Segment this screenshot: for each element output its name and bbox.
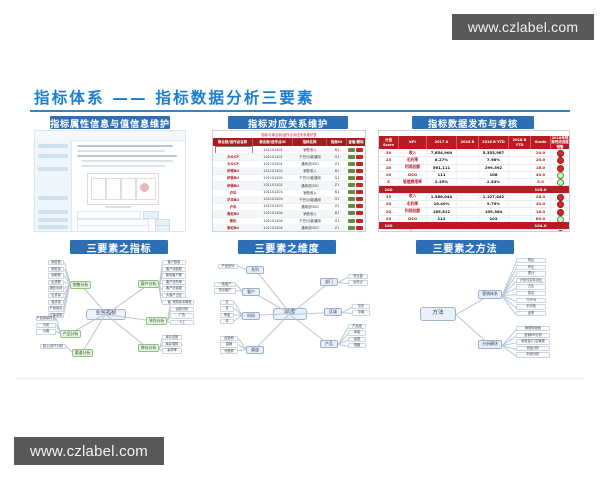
col-score: 分值 Score bbox=[379, 136, 399, 149]
form-label-column bbox=[35, 140, 72, 231]
mindmap-branch-node[interactable]: 营销体系 bbox=[478, 290, 502, 299]
mindmap-branch-node[interactable]: 系列 bbox=[246, 266, 264, 274]
mindmap-leaf-node[interactable]: 累计 bbox=[516, 271, 546, 276]
mindmap-leaf-node[interactable]: 运作点 bbox=[348, 280, 368, 285]
total-grade: 104.0 bbox=[531, 222, 551, 229]
form-label-row bbox=[38, 225, 68, 229]
table-cell: G1 bbox=[327, 174, 347, 181]
delete-button[interactable] bbox=[356, 211, 363, 215]
table-cell: 1,127,442 bbox=[479, 193, 509, 200]
table-cell: 通用总DSO bbox=[293, 203, 327, 210]
table-cell: 销售收入 bbox=[293, 167, 327, 174]
table-cell bbox=[457, 200, 479, 207]
table-cell: B1 bbox=[327, 146, 347, 153]
table-cell: 通用总DSO bbox=[293, 160, 327, 167]
table-cell bbox=[509, 207, 531, 214]
table-cell: 收入 bbox=[399, 229, 427, 232]
table-cell bbox=[457, 178, 479, 185]
table-cell: Z1 bbox=[327, 203, 347, 210]
mindmap-leaf-node[interactable]: 广告 bbox=[170, 313, 194, 318]
table-cell: 101101202 bbox=[253, 182, 293, 189]
table-cell: 销售收入 bbox=[293, 210, 327, 217]
watermark-bottom: www.czlabel.com bbox=[14, 437, 164, 465]
table-row[interactable]: 上汽BU101101205销售收入B1 bbox=[213, 231, 365, 232]
mindmap-center-node[interactable]: 方法 bbox=[420, 307, 456, 321]
table-cell: 101101204 bbox=[253, 210, 293, 217]
publish-table-header: 分值 Score KPI 2017 A 2018 B 2018 B YTD 20… bbox=[379, 136, 569, 149]
col-ytd-b: 2018 B YTD bbox=[509, 136, 531, 149]
table-cell: 20 bbox=[379, 171, 399, 178]
table-cell: 561,111 bbox=[427, 164, 457, 171]
mindmap-leaf-node[interactable]: 库存总额 bbox=[162, 335, 182, 340]
form-label-row bbox=[38, 154, 68, 158]
table-cell bbox=[509, 178, 531, 185]
table-cell: 沪华 bbox=[213, 189, 253, 196]
delete-button[interactable] bbox=[356, 169, 363, 173]
mindmap-leaf-node[interactable]: 产品系列 bbox=[218, 264, 238, 269]
table-cell: 大众CP bbox=[213, 160, 253, 167]
mindmap-leaf-node[interactable]: 经销商 bbox=[220, 336, 238, 341]
form-input[interactable] bbox=[77, 225, 149, 232]
mindmap-leaf-node[interactable]: 品类 bbox=[348, 337, 366, 342]
view-button[interactable] bbox=[348, 176, 355, 180]
mindmap-leaf-node[interactable]: TOP N bbox=[516, 298, 546, 303]
table-cell: 109,364 bbox=[479, 207, 509, 214]
mindmap-branch-node[interactable]: 客户分析 bbox=[138, 280, 159, 288]
table-cell: 利润总额 bbox=[399, 164, 427, 171]
col-2017a: 2017 A bbox=[427, 136, 457, 149]
mindmap-leaf-node[interactable]: 回款额 bbox=[48, 273, 64, 278]
delete-button[interactable] bbox=[356, 155, 363, 159]
mindmap-leaf-node[interactable]: 销售量 bbox=[48, 267, 64, 272]
table-cell: 299,592 bbox=[479, 164, 509, 171]
relation-table-caption: 指标与事业部/运作点对应关系维护表 bbox=[213, 131, 365, 138]
table-cell: 销售收入 bbox=[293, 146, 327, 153]
mindmap-branch-node[interactable]: 产品 bbox=[320, 340, 338, 348]
note-line bbox=[77, 150, 165, 152]
total-score: 100 bbox=[379, 186, 399, 193]
form-input[interactable] bbox=[77, 211, 141, 219]
mindmap-leaf-node[interactable]: 价格 bbox=[36, 329, 56, 334]
mindmap-branch-node[interactable]: 分析模块 bbox=[478, 340, 502, 349]
panel-header-method: 三要素之方法 bbox=[416, 240, 514, 254]
form-label-row bbox=[38, 196, 68, 200]
table-cell: 101101203 bbox=[253, 203, 293, 210]
table-cell bbox=[509, 193, 531, 200]
total-score: 100 bbox=[379, 222, 399, 229]
table-cell: 654,987 bbox=[479, 229, 509, 232]
mindmap-leaf-node[interactable]: 季度 bbox=[220, 313, 234, 318]
mindmap-leaf-node[interactable]: 计划与实际对比 bbox=[516, 278, 546, 283]
mindmap-branch-node[interactable]: 渠道 bbox=[246, 346, 264, 354]
view-button[interactable] bbox=[348, 169, 355, 173]
table-cell: 111 bbox=[427, 171, 457, 178]
screenshot-publish-table[interactable]: 分值 Score KPI 2017 A 2018 B 2018 B YTD 20… bbox=[378, 130, 570, 232]
mindmap-method[interactable]: 方法营销体系同比环比累计计划与实际对比占比排名TOP N平均值走势分析模块管理驾… bbox=[382, 254, 568, 372]
mindmap-connector bbox=[338, 344, 348, 347]
table-cell: B1 bbox=[327, 189, 347, 196]
mindmap-leaf-node[interactable]: 日 bbox=[220, 300, 234, 305]
view-button[interactable] bbox=[348, 183, 355, 187]
mindmap-leaf-node[interactable]: 运费分析 bbox=[170, 307, 194, 312]
table-cell bbox=[509, 164, 531, 171]
mindmap-connector bbox=[342, 312, 352, 314]
mindmap-branch-node[interactable]: 销售分析 bbox=[70, 281, 91, 289]
table-row[interactable]: 35收入927,981654,98728.0 bbox=[379, 229, 569, 232]
mindmap-connector bbox=[233, 315, 242, 322]
table-cell: 2.54% bbox=[479, 178, 509, 185]
delete-button[interactable] bbox=[356, 162, 363, 166]
table-cell: DSO bbox=[399, 171, 427, 178]
mindmap-leaf-node[interactable]: 分类 bbox=[36, 323, 56, 328]
mindmap-leaf-node[interactable]: 营销KPI分析 bbox=[516, 333, 550, 338]
table-cell: 销售收入 bbox=[293, 231, 327, 232]
table-cell: 收入 bbox=[399, 149, 427, 156]
table-cell: 101101203 bbox=[253, 196, 293, 203]
mindmap-leaf-node[interactable]: 销售额 bbox=[48, 260, 64, 265]
table-cell: 青松BU bbox=[213, 210, 253, 217]
table-cell: 20 bbox=[379, 207, 399, 214]
table-cell: 25 bbox=[379, 156, 399, 163]
delete-button[interactable] bbox=[356, 148, 363, 152]
slide-card: 指标体系 —— 指标数据分析三要素 指标属性信息与值信息维护 bbox=[16, 72, 584, 377]
delete-button[interactable] bbox=[356, 183, 363, 187]
mindmap-leaf-node[interactable]: 产品销量排名 bbox=[36, 316, 56, 321]
table-cell bbox=[457, 193, 479, 200]
mindmap-leaf-node[interactable]: 产品组合 bbox=[48, 306, 64, 311]
mindmap-connector bbox=[238, 349, 246, 351]
table-cell: 101101201 bbox=[253, 146, 293, 153]
table-cell: 利润总额 bbox=[399, 207, 427, 214]
table-cell: 沪华 bbox=[213, 203, 253, 210]
note-line bbox=[81, 165, 165, 167]
mindmap-branch-node[interactable]: 产品分析 bbox=[60, 330, 81, 338]
view-button[interactable] bbox=[348, 190, 355, 194]
table-cell: 30 bbox=[379, 149, 399, 156]
screenshot-attr-form[interactable] bbox=[34, 130, 186, 232]
table-cell: 干巴/功能通用 bbox=[293, 153, 327, 160]
slide-canvas: 指标体系 —— 指标数据分析三要素 指标属性信息与值信息维护 bbox=[0, 0, 600, 480]
table-cell bbox=[509, 229, 531, 232]
mindmap-leaf-node[interactable]: 利润分析 bbox=[516, 352, 550, 357]
table-cell bbox=[509, 200, 531, 207]
table-cell: 干巴/功能通用 bbox=[293, 217, 327, 224]
mindmap-leaf-node[interactable]: 客户数量 bbox=[162, 260, 186, 265]
table-cell bbox=[457, 149, 479, 156]
table-cell: 青松BU bbox=[213, 224, 253, 231]
table-cell: 101101202 bbox=[253, 167, 293, 174]
col-2018b: 2018 B bbox=[457, 136, 479, 149]
table-cell: DSO bbox=[399, 215, 427, 222]
table-cell: Z1 bbox=[327, 182, 347, 189]
table-cell: 干巴/功能通用 bbox=[293, 196, 327, 203]
panel-header-relation: 指标对应关系维护 bbox=[228, 116, 348, 129]
col-ytd-a: 2018 B YTD bbox=[479, 136, 509, 149]
table-cell: 927,981 bbox=[427, 229, 457, 232]
col-grade: Grade bbox=[531, 136, 551, 149]
mindmap-leaf-node[interactable]: 事业部 bbox=[348, 274, 368, 279]
table-cell: B1 bbox=[327, 210, 347, 217]
table-cell: 35 bbox=[379, 229, 399, 232]
mindmap-branch-node[interactable]: 节约分析 bbox=[146, 317, 167, 325]
table-cell: 毛利率 bbox=[399, 200, 427, 207]
mindmap-leaf-node[interactable]: 人工 bbox=[170, 320, 194, 325]
table-cell: 112 bbox=[427, 215, 457, 222]
table-cell: 5 bbox=[379, 178, 399, 185]
mindmap-branch-node[interactable]: 库存分析 bbox=[138, 344, 159, 352]
table-cell: 20.0 bbox=[531, 156, 551, 163]
mindmap-branch-node[interactable]: 客户 bbox=[242, 288, 260, 296]
table-cell: 9.79% bbox=[479, 200, 509, 207]
formula-cell bbox=[121, 178, 136, 200]
mindmap-leaf-node[interactable]: 线上/线下分析 bbox=[40, 344, 66, 349]
table-cell: 101101204 bbox=[253, 217, 293, 224]
view-button[interactable] bbox=[348, 162, 355, 166]
table-cell: 管理费用率 bbox=[399, 178, 427, 185]
form-label-row bbox=[38, 144, 68, 148]
view-button[interactable] bbox=[348, 197, 355, 201]
table-cell: 沪华BU bbox=[213, 196, 253, 203]
mindmap-branch-node[interactable]: 区域 bbox=[324, 308, 342, 316]
table-cell: 35 bbox=[379, 193, 399, 200]
table-cell: 5.0 bbox=[531, 178, 551, 185]
watermark-top: www.czlabel.com bbox=[452, 14, 594, 40]
table-cell bbox=[509, 171, 531, 178]
mindmap-leaf-node[interactable]: 环比 bbox=[516, 265, 546, 270]
mindmap-connector bbox=[236, 290, 242, 292]
mindmap-branch-node[interactable]: 部门 bbox=[320, 278, 338, 286]
table-cell: 干巴/功能通用 bbox=[293, 174, 327, 181]
mindmap-connector bbox=[106, 284, 149, 315]
table-cell bbox=[509, 215, 531, 222]
table-cell: 伊顿BU bbox=[213, 182, 253, 189]
mindmap-leaf-node[interactable]: 销售毛利 bbox=[48, 286, 64, 291]
view-button[interactable] bbox=[348, 226, 355, 230]
mindmap-leaf-node[interactable]: 客户消费额 bbox=[162, 267, 186, 272]
col-kpi-name: 指标名称 bbox=[293, 138, 327, 146]
mindmap-indicator[interactable]: 业务指标销售分析销售额销售量回款额出货额销售毛利出货量退货量产品组合订单金额客户… bbox=[34, 254, 204, 372]
mindmap-leaf-node[interactable]: 直销 bbox=[220, 342, 238, 347]
formula-cell bbox=[91, 178, 106, 200]
table-cell bbox=[457, 229, 479, 232]
mindmap-leaf-node[interactable]: 退货量 bbox=[48, 300, 64, 305]
mindmap-leaf-node[interactable]: 出货额 bbox=[48, 280, 64, 285]
view-button[interactable] bbox=[348, 148, 355, 152]
col-org-name: 事业部/运作点名称 bbox=[213, 138, 253, 146]
mindmap-connector bbox=[255, 269, 291, 314]
mindmap-connector bbox=[338, 282, 348, 284]
table-cell: Z1 bbox=[327, 224, 347, 231]
mindmap-leaf-node[interactable]: 销售部/门店管理 bbox=[516, 339, 550, 344]
mindmap-branch-node[interactable]: 时间 bbox=[242, 312, 260, 320]
table-cell: 10.40% bbox=[427, 200, 457, 207]
panel-header-indicator: 三要素之指标 bbox=[70, 240, 168, 254]
table-cell: 上汽BU bbox=[213, 231, 253, 232]
table-cell: Z1 bbox=[327, 160, 347, 167]
delete-button[interactable] bbox=[356, 204, 363, 208]
view-button[interactable] bbox=[348, 211, 355, 215]
mindmap-leaf-node[interactable]: 同比 bbox=[516, 258, 546, 263]
mindmap-branch-node[interactable]: 渠道分析 bbox=[72, 349, 93, 357]
table-cell: 通用总DSO bbox=[293, 182, 327, 189]
status-badge bbox=[557, 230, 564, 232]
table-cell: 毛利率 bbox=[399, 156, 427, 163]
delete-button[interactable] bbox=[356, 197, 363, 201]
table-cell: 20 bbox=[379, 215, 399, 222]
table-cell: 16.0 bbox=[531, 207, 551, 214]
mindmap-leaf-node[interactable]: 月 bbox=[220, 306, 234, 311]
table-cell: 1,588,044 bbox=[427, 193, 457, 200]
form-label-row bbox=[38, 210, 68, 214]
form-submit-button[interactable] bbox=[155, 225, 170, 232]
table-cell: 24.0 bbox=[531, 149, 551, 156]
table-cell: 16.0 bbox=[531, 164, 551, 171]
panel-header-attr: 指标属性信息与值信息维护 bbox=[50, 116, 170, 129]
relation-table-header: 事业部/运作点名称 事业部/运作点ID 指标名称 指标ID 查看/删除 bbox=[213, 138, 365, 146]
table-cell: 101101201 bbox=[253, 153, 293, 160]
mindmap-leaf-node[interactable]: 年 bbox=[220, 319, 234, 324]
table-cell: 40.0 bbox=[531, 171, 551, 178]
col-alert: 2018年预算完成进度预警 bbox=[551, 136, 569, 149]
table-cell bbox=[457, 215, 479, 222]
page-title: 指标体系 —— 指标数据分析三要素 bbox=[34, 86, 315, 108]
mindmap-leaf-node[interactable]: 采购成本降低 bbox=[170, 300, 194, 305]
delete-button[interactable] bbox=[356, 190, 363, 194]
mindmap-leaf-node[interactable]: 单品 bbox=[348, 330, 366, 335]
mindmap-leaf-node[interactable]: 规格 bbox=[348, 343, 366, 348]
mindmap-leaf-node[interactable]: 管理驾驶舱 bbox=[516, 326, 550, 331]
mindmap-leaf-node[interactable]: 新增客户数 bbox=[162, 273, 186, 278]
table-cell: B1 bbox=[327, 167, 347, 174]
delete-button[interactable] bbox=[356, 176, 363, 180]
mindmap-leaf-node[interactable]: 排名 bbox=[516, 291, 546, 296]
form-browse-button[interactable] bbox=[143, 211, 159, 219]
table-cell: 8.27% bbox=[427, 156, 457, 163]
mindmap-leaf-node[interactable]: 呆滞率 bbox=[162, 348, 182, 353]
table-cell: 25 bbox=[379, 200, 399, 207]
col-org-id: 事业部/运作点ID bbox=[253, 138, 293, 146]
table-cell: 伊顿BU bbox=[213, 174, 253, 181]
mindmap-leaf-node[interactable]: 出货量 bbox=[48, 293, 64, 298]
table-cell: 通用总DSO bbox=[293, 224, 327, 231]
panel-header-dimension: 三要素之维度 bbox=[238, 240, 336, 254]
view-button[interactable] bbox=[348, 219, 355, 223]
table-cell: 销售收入 bbox=[293, 189, 327, 196]
table-cell: 101101204 bbox=[253, 224, 293, 231]
delete-button[interactable] bbox=[356, 219, 363, 223]
table-cell bbox=[457, 207, 479, 214]
table-cell bbox=[457, 164, 479, 171]
formula-caption bbox=[105, 206, 131, 208]
table-cell: 7.98% bbox=[479, 156, 509, 163]
table-cell: 2.35% bbox=[427, 178, 457, 185]
table-cell: 收入 bbox=[399, 193, 427, 200]
table-cell: 伊顿BU bbox=[213, 167, 253, 174]
form-label-row bbox=[38, 167, 68, 171]
screenshot-relation-table[interactable]: 指标与事业部/运作点对应关系维护表 事业部/运作点名称 事业部/运作点ID 指标… bbox=[212, 130, 366, 232]
mindmap-dimension[interactable]: 维度系列产品系列客户一般客户重点客户时间日月季度年渠道经销商直销代理商部门事业部… bbox=[212, 254, 372, 372]
mindmap-leaf-node[interactable]: 一般客户 bbox=[214, 282, 236, 287]
table-cell: G1 bbox=[327, 153, 347, 160]
table-cell: 60.0 bbox=[531, 215, 551, 222]
mindmap-leaf-node[interactable]: 客户流失率 bbox=[162, 280, 186, 285]
mindmap-leaf-node[interactable]: 重点客户 bbox=[214, 288, 236, 293]
table-cell bbox=[457, 156, 479, 163]
table-cell bbox=[509, 149, 531, 156]
table-cell: 101101205 bbox=[253, 231, 293, 232]
view-button[interactable] bbox=[348, 204, 355, 208]
table-cell: 101101201 bbox=[253, 160, 293, 167]
table-cell: 20 bbox=[379, 164, 399, 171]
table-cell: 28.0 bbox=[531, 193, 551, 200]
mindmap-leaf-node[interactable]: 商品分析 bbox=[516, 346, 550, 351]
table-cell: 165,812 bbox=[427, 207, 457, 214]
formula-cell bbox=[106, 178, 121, 200]
col-kpi-id: 指标ID bbox=[327, 138, 347, 146]
table-cell: 青松 bbox=[213, 217, 253, 224]
table-cell: 20.0 bbox=[531, 200, 551, 207]
table-cell: 5,353,987 bbox=[479, 149, 509, 156]
mindmap-leaf-node[interactable]: 客户忠诚度 bbox=[162, 286, 186, 291]
mindmap-leaf-node[interactable]: 代理商 bbox=[220, 349, 238, 354]
note-line bbox=[81, 160, 173, 162]
mindmap-leaf-node[interactable]: 占比 bbox=[516, 284, 546, 289]
table-cell: 101101202 bbox=[253, 174, 293, 181]
note-line bbox=[77, 145, 173, 147]
mindmap-leaf-node[interactable]: 库存周转 bbox=[162, 342, 182, 347]
title-underline bbox=[30, 110, 570, 112]
formula-stamp bbox=[140, 183, 149, 192]
form-label-row bbox=[38, 218, 68, 222]
mindmap-leaf-node[interactable]: 大客户占比 bbox=[162, 293, 186, 298]
table-cell: G1 bbox=[327, 196, 347, 203]
mindmap-leaf-node[interactable]: 产品组 bbox=[348, 324, 366, 329]
table-cell bbox=[509, 156, 531, 163]
table-cell: G1 bbox=[327, 217, 347, 224]
delete-button[interactable] bbox=[356, 226, 363, 230]
table-cell: 28.0 bbox=[531, 229, 551, 232]
formula-diagram bbox=[87, 173, 159, 205]
table-cell: 101101203 bbox=[253, 189, 293, 196]
table-cell: 102 bbox=[479, 215, 509, 222]
total-grade: 105.0 bbox=[531, 186, 551, 193]
col-actions: 查看/删除 bbox=[347, 138, 365, 146]
mindmap-leaf-node[interactable]: 华南 bbox=[352, 310, 370, 315]
note-line bbox=[77, 155, 177, 157]
view-button[interactable] bbox=[348, 155, 355, 159]
table-cell: 7,654,900 bbox=[427, 149, 457, 156]
table-cell: 大众CP bbox=[213, 153, 253, 160]
table-cell: 108 bbox=[479, 171, 509, 178]
panel-header-publish: 指标数据发布与考核 bbox=[412, 116, 534, 129]
mindmap-leaf-node[interactable]: 平均值 bbox=[516, 304, 546, 309]
mindmap-leaf-node[interactable]: 华东 bbox=[352, 304, 370, 309]
col-kpi: KPI bbox=[399, 136, 427, 149]
table-cell: B1 bbox=[327, 231, 347, 232]
table-cell bbox=[457, 171, 479, 178]
mindmap-leaf-node[interactable]: 走势 bbox=[516, 311, 546, 316]
